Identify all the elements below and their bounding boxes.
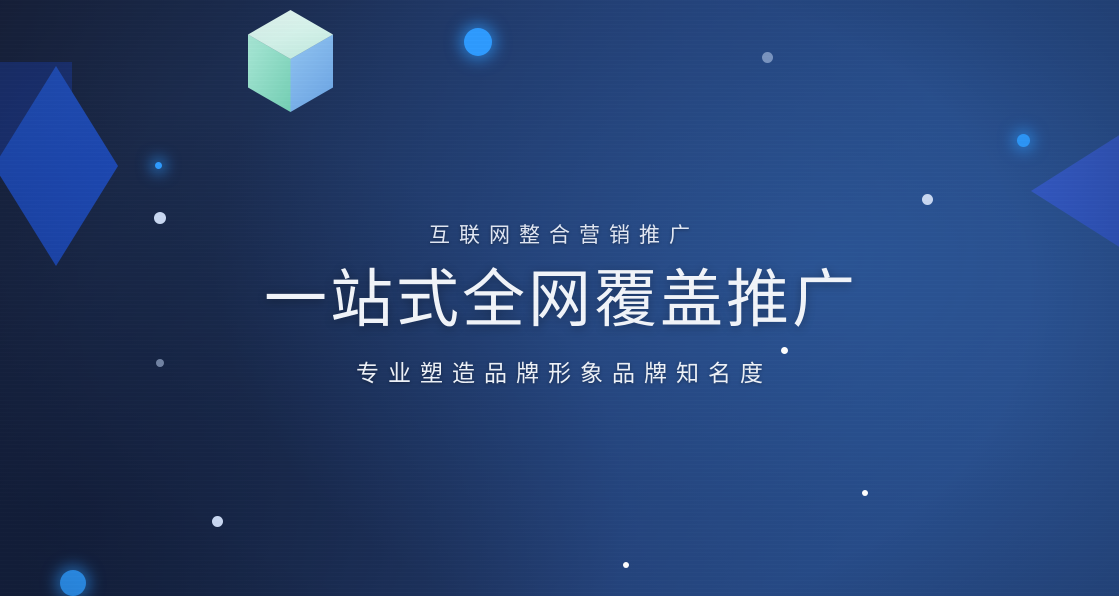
dot-pale-right-mid — [922, 194, 933, 205]
hero-eyebrow: 互联网整合营销推广 — [0, 222, 1119, 249]
cube-icon — [243, 6, 338, 116]
dot-blue-left-upper — [155, 162, 162, 169]
dot-white-bottom-right — [862, 490, 868, 496]
cube-logo — [243, 6, 338, 116]
hero-tagline: 专业塑造品牌形象品牌知名度 — [0, 354, 1119, 388]
dot-glow-bottom-left — [60, 570, 86, 596]
hero-headline: 一站式全网覆盖推广 — [0, 263, 1119, 337]
dot-white-bottom-center — [623, 562, 629, 568]
dot-blue-right-upper — [1017, 134, 1030, 147]
dot-pale-bottom-left — [212, 516, 223, 527]
hero-banner: 互联网整合营销推广 一站式全网覆盖推广 专业塑造品牌形象品牌知名度 — [0, 0, 1119, 596]
hero-copy: 互联网整合营销推广 一站式全网覆盖推广 专业塑造品牌形象品牌知名度 — [0, 222, 1119, 388]
dot-glow-top-center — [464, 28, 492, 56]
dot-pale-top-right-center — [762, 52, 773, 63]
